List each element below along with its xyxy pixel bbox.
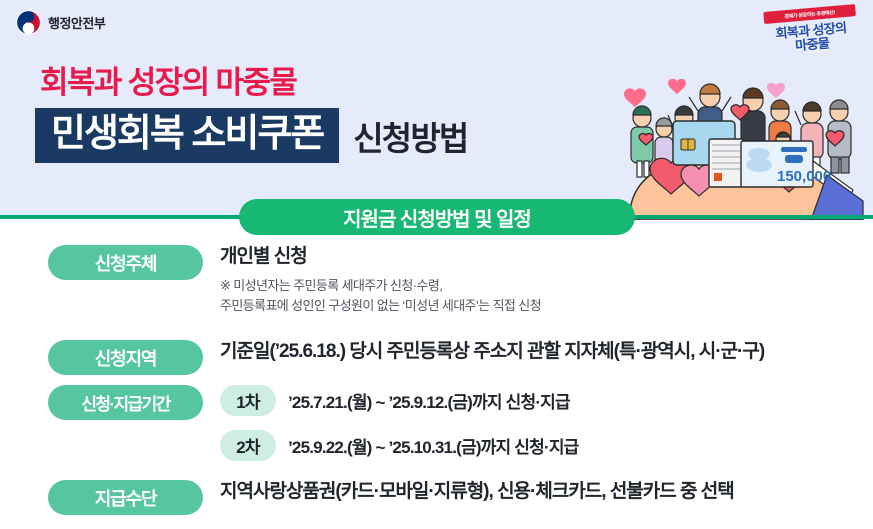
page-title-suffix: 신청방법	[353, 112, 467, 160]
applicant-heading: 개인별 신청	[220, 245, 873, 269]
phase-badge-label: 2차	[236, 433, 260, 458]
voucher-amount: 150,000	[777, 168, 831, 185]
taegeuk-icon	[16, 10, 41, 35]
main-title-row: 민생회복 소비쿠폰 신청방법	[35, 108, 468, 163]
row-label-region: 신청지역	[48, 340, 203, 375]
row-label-text: 신청·지급기간	[81, 390, 169, 415]
row-body-period: 1차 ’25.7.21.(월) ~ ’25.9.12.(금)까지 신청·지급 2…	[203, 385, 873, 461]
row-label-text: 신청지역	[95, 345, 156, 371]
kicker-text: 회복과 성장의 마중물	[40, 57, 296, 102]
row-region: 신청지역 기준일(’25.6.18.) 당시 주민등록상 주소지 관할 지자체(…	[0, 340, 873, 375]
row-applicant: 신청주체 개인별 신청 ※ 미성년자는 주민등록 세대주가 신청·수령, 주민등…	[0, 245, 873, 316]
hero-illustration: 150,000	[613, 55, 873, 220]
row-payment-method: 지급수단 지역사랑상품권(카드·모바일·지류형), 신용·체크카드, 선불카드 …	[0, 480, 873, 515]
row-label-text: 신청주체	[95, 250, 156, 276]
section-header-title: 지원금 신청방법 및 일정	[343, 203, 531, 232]
row-period: 신청·지급기간 1차 ’25.7.21.(월) ~ ’25.9.12.(금)까지…	[0, 385, 873, 461]
row-label-payment: 지급수단	[48, 480, 203, 515]
period-phase-2: 2차 ’25.9.22.(월) ~ ’25.10.31.(금)까지 신청·지급	[220, 430, 873, 461]
row-label-period: 신청·지급기간	[48, 385, 203, 420]
page-title: 민생회복 소비쿠폰	[35, 108, 339, 163]
phase-badge-2: 2차	[220, 430, 276, 461]
row-body-region: 기준일(’25.6.18.) 당시 주민등록상 주소지 관할 지자체(특·광역시…	[203, 340, 873, 364]
region-heading: 기준일(’25.6.18.) 당시 주민등록상 주소지 관할 지자체(특·광역시…	[220, 340, 873, 364]
campaign-emblem: 경제가 성장하는 추경예산! 회복과 성장의 마중물	[755, 1, 867, 58]
ministry-identity: 행정안전부	[16, 10, 105, 35]
row-label-text: 지급수단	[95, 485, 156, 511]
section-header-pill: 지원금 신청방법 및 일정	[239, 199, 635, 235]
info-rows: 신청주체 개인별 신청 ※ 미성년자는 주민등록 세대주가 신청·수령, 주민등…	[0, 240, 873, 529]
period-phase-1: 1차 ’25.7.21.(월) ~ ’25.9.12.(금)까지 신청·지급	[220, 385, 873, 416]
row-body-payment: 지역사랑상품권(카드·모바일·지류형), 신용·체크카드, 선불카드 중 선택	[203, 480, 873, 504]
phase-2-dates: ’25.9.22.(월) ~ ’25.10.31.(금)까지 신청·지급	[288, 433, 579, 458]
phase-badge-label: 1차	[236, 388, 260, 413]
phase-badge-1: 1차	[220, 385, 276, 416]
phase-1-dates: ’25.7.21.(월) ~ ’25.9.12.(금)까지 신청·지급	[288, 388, 570, 413]
poster-root: 행정안전부 경제가 성장하는 추경예산! 회복과 성장의 마중물 회복과 성장의…	[0, 0, 873, 529]
ministry-name: 행정안전부	[48, 13, 105, 32]
payment-heading: 지역사랑상품권(카드·모바일·지류형), 신용·체크카드, 선불카드 중 선택	[220, 480, 873, 504]
applicant-note: ※ 미성년자는 주민등록 세대주가 신청·수령, 주민등록표에 성인인 구성원이…	[220, 276, 873, 316]
row-label-applicant: 신청주체	[48, 245, 203, 280]
row-body-applicant: 개인별 신청 ※ 미성년자는 주민등록 세대주가 신청·수령, 주민등록표에 성…	[203, 245, 873, 316]
